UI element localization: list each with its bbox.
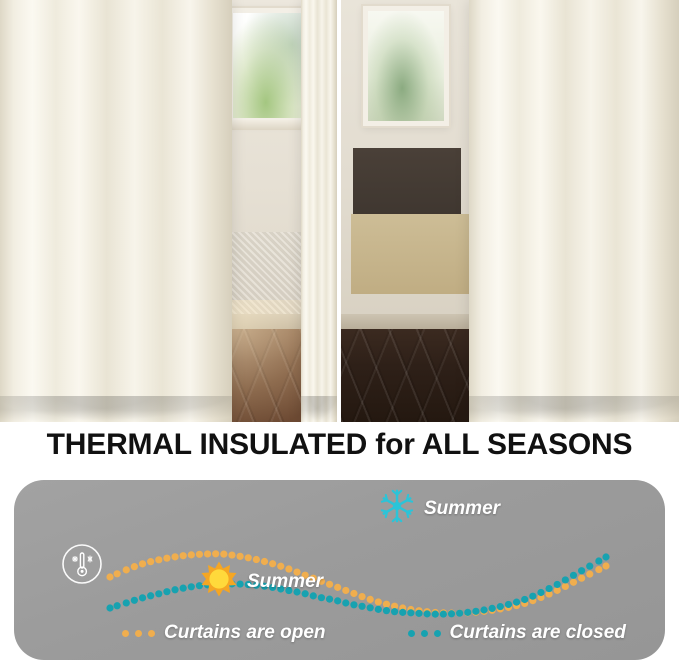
room-scene-sunlit xyxy=(0,0,337,422)
chart-legend: Curtains are open Curtains are closed xyxy=(14,622,665,644)
product-photo-strip xyxy=(0,0,679,422)
curtain-panel-right-edge xyxy=(301,0,337,422)
curve-curtains-are-open xyxy=(106,550,609,616)
curtain-panel-closed xyxy=(469,0,679,422)
marker-snowflake: Summer xyxy=(378,487,500,530)
legend-item-curtains-open: Curtains are open xyxy=(122,622,326,644)
page-title: THERMAL INSULATED for ALL SEASONS xyxy=(0,428,679,462)
area-rug xyxy=(351,214,469,294)
marker-sun: Summer xyxy=(199,559,323,604)
marker-label-sun: Summer xyxy=(247,571,323,593)
curve-curtains-are-closed xyxy=(106,553,609,617)
dotted-curve-layer xyxy=(106,550,609,617)
sun-icon xyxy=(199,559,239,604)
window-with-foliage xyxy=(363,6,449,126)
photo-pane-curtains-closed xyxy=(341,0,679,422)
room-scene-dim xyxy=(341,0,679,422)
marker-label-snowflake: Summer xyxy=(424,498,500,520)
snowflake-icon xyxy=(378,487,416,530)
thermometer-badge xyxy=(61,543,103,585)
legend-label-curtains-closed: Curtains are closed xyxy=(450,622,626,644)
legend-swatch-orange xyxy=(122,630,155,637)
legend-swatch-teal xyxy=(408,630,441,637)
curtain-panel-left xyxy=(0,0,232,422)
legend-item-curtains-closed: Curtains are closed xyxy=(408,622,626,644)
legend-label-curtains-open: Curtains are open xyxy=(164,622,326,644)
photo-pane-curtains-open xyxy=(0,0,337,422)
